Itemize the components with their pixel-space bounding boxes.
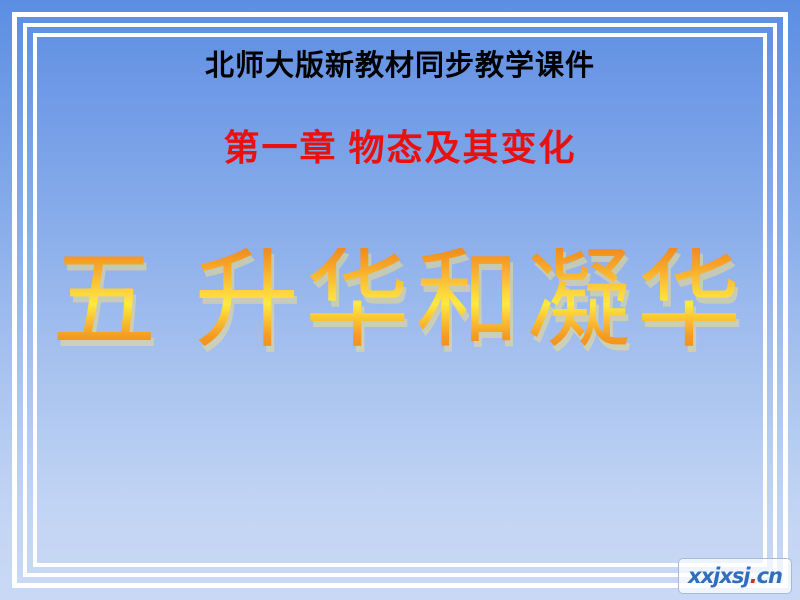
main-title-wrap: 五 升华和凝华: [0, 248, 800, 356]
watermark-part-b: cn: [757, 564, 782, 588]
watermark-part-a: xxjxsj: [688, 564, 750, 588]
main-title: 五 升华和凝华: [52, 248, 748, 356]
watermark-dot: .: [750, 564, 757, 588]
chapter-title: 第一章 物态及其变化: [0, 128, 800, 169]
watermark-text: xxjxsj.cn: [688, 566, 782, 587]
watermark-badge: xxjxsj.cn: [678, 558, 792, 594]
series-title: 北师大版新教材同步教学课件: [0, 50, 800, 83]
presentation-slide: 北师大版新教材同步教学课件 第一章 物态及其变化 五 升华和凝华 五 升华和凝华…: [0, 0, 800, 600]
